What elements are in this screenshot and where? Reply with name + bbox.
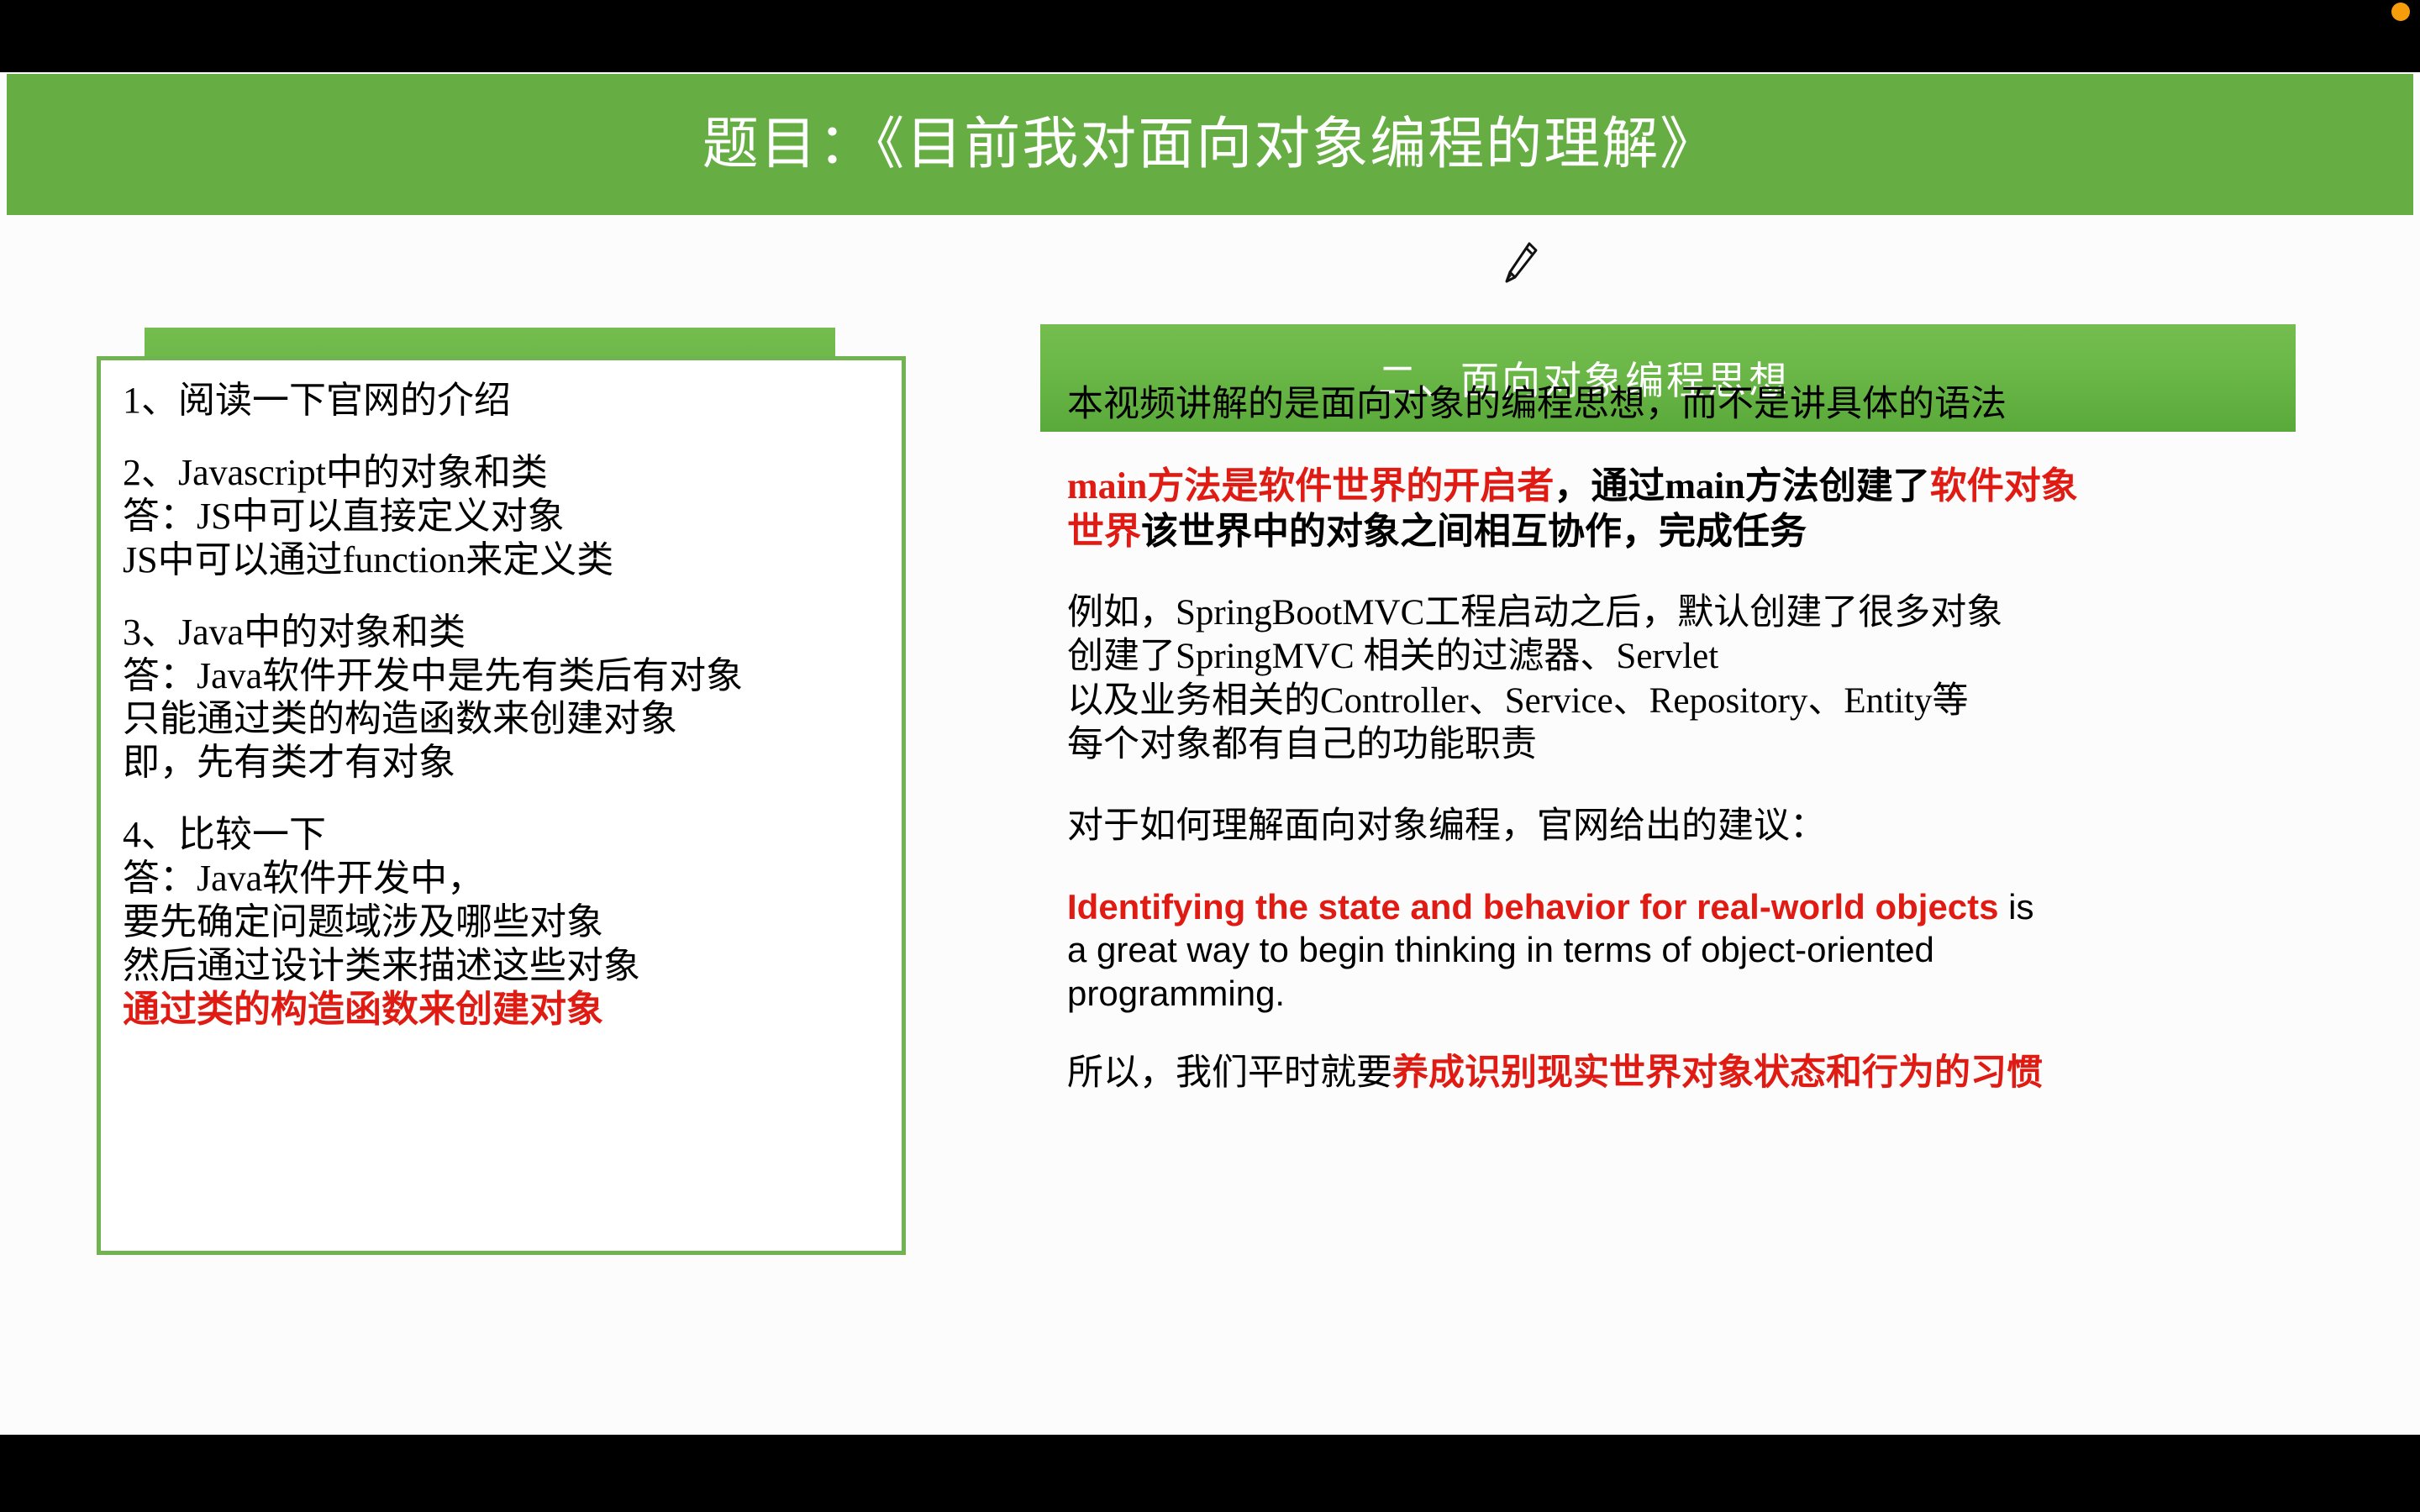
- outline-line: 即，先有类才有对象: [123, 741, 880, 785]
- body-text: 本视频讲解的是面向对象的编程思想，而不是讲具体的语法: [1067, 385, 2007, 424]
- outline-line: 只能通过类的构造函数来创建对象: [123, 697, 880, 741]
- body-text: 每个对象都有自己的功能职责: [1067, 725, 1537, 764]
- highlight-text: 世界: [1067, 511, 1141, 552]
- outline-line: 1、阅读一下官网的介绍: [123, 379, 880, 423]
- oop-paragraph-line: 例如，SpringBootMVC工程启动之后，默认创建了很多对象: [1067, 591, 2378, 635]
- outline-list: 1、阅读一下官网的介绍2、Javascript中的对象和类答：JS中可以直接定义…: [123, 379, 880, 1032]
- outline-line: 然后通过设计类来描述这些对象: [123, 944, 880, 988]
- oop-content-column: 本视频讲解的是面向对象的编程思想，而不是讲具体的语法main方法是软件世界的开启…: [1067, 383, 2378, 1095]
- outline-line: 3、Java中的对象和类: [123, 611, 880, 654]
- page-title: 题目：《目前我对面向对象编程的理解》: [702, 117, 1718, 173]
- oop-paragraph-line: 世界该世界中的对象之间相互协作，完成任务: [1067, 509, 2378, 554]
- outline-line: 要先确定问题域涉及哪些对象: [123, 900, 880, 944]
- oop-paragraph: Identifying the state and behavior for r…: [1067, 885, 2378, 1015]
- outline-line: 答：Java软件开发中是先有类后有对象: [123, 654, 880, 698]
- body-text: programming.: [1067, 974, 1285, 1013]
- outline-line: JS中可以通过function来定义类: [123, 538, 880, 582]
- highlight-text: 养成识别现实世界对象状态和行为的习惯: [1392, 1053, 2043, 1093]
- oop-paragraph-line: programming.: [1067, 972, 2378, 1015]
- oop-paragraph-line: 每个对象都有自己的功能职责: [1067, 723, 2378, 767]
- body-text: 以及业务相关的Controller、Service、Repository、Ent…: [1067, 681, 1969, 721]
- outline-content-box: 1、阅读一下官网的介绍2、Javascript中的对象和类答：JS中可以直接定义…: [97, 356, 906, 1255]
- recording-dot-icon: [2391, 3, 2410, 21]
- oop-paragraph: 所以，我们平时就要养成识别现实世界对象状态和行为的习惯: [1067, 1052, 2378, 1095]
- outline-line: 答：Java软件开发中，: [123, 857, 880, 900]
- body-text: 创建了SpringMVC 相关的过滤器、Servlet: [1067, 637, 1718, 676]
- highlight-text: main方法是软件世界的开启者: [1067, 465, 1554, 507]
- oop-paragraph-line: a great way to begin thinking in terms o…: [1067, 928, 2378, 971]
- body-text: is: [1999, 887, 2034, 927]
- oop-paragraph-line: main方法是软件世界的开启者，通过main方法创建了软件对象: [1067, 464, 2378, 509]
- body-text: 例如，SpringBootMVC工程启动之后，默认创建了很多对象: [1067, 593, 2002, 633]
- letterbox-top-bar: [0, 0, 2420, 72]
- oop-paragraph-line: 对于如何理解面向对象编程，官网给出的建议：: [1067, 805, 2378, 848]
- oop-paragraph: 本视频讲解的是面向对象的编程思想，而不是讲具体的语法: [1067, 383, 2378, 427]
- oop-paragraph-line: 创建了SpringMVC 相关的过滤器、Servlet: [1067, 635, 2378, 679]
- oop-paragraph: main方法是软件世界的开启者，通过main方法创建了软件对象世界该世界中的对象…: [1067, 464, 2378, 554]
- letterbox-bottom-bar: [0, 1435, 2420, 1512]
- oop-paragraph-line: 以及业务相关的Controller、Service、Repository、Ent…: [1067, 680, 2378, 723]
- body-text: 对于如何理解面向对象编程，官网给出的建议：: [1067, 806, 1826, 846]
- slide-canvas: 题目：《目前我对面向对象编程的理解》 一、内容大纲 二、面向对象编程思想 1、阅…: [0, 72, 2420, 1435]
- body-text: 所以，我们平时就要: [1067, 1053, 1392, 1093]
- outline-item: 1、阅读一下官网的介绍: [123, 379, 880, 423]
- outline-line: 通过类的构造函数来创建对象: [123, 988, 880, 1032]
- outline-line: 2、Javascript中的对象和类: [123, 451, 880, 495]
- oop-paragraph: 例如，SpringBootMVC工程启动之后，默认创建了很多对象创建了Sprin…: [1067, 591, 2378, 768]
- body-text: ，通过main方法创建了: [1554, 465, 1929, 507]
- oop-paragraph: 对于如何理解面向对象编程，官网给出的建议：: [1067, 805, 2378, 848]
- oop-paragraph-line: 所以，我们平时就要养成识别现实世界对象状态和行为的习惯: [1067, 1052, 2378, 1095]
- highlight-text: Identifying the state and behavior for r…: [1067, 887, 1999, 927]
- slide-title-banner: 题目：《目前我对面向对象编程的理解》: [7, 74, 2413, 215]
- body-text: a great way to begin thinking in terms o…: [1067, 930, 1934, 969]
- screen-stage: 题目：《目前我对面向对象编程的理解》 一、内容大纲 二、面向对象编程思想 1、阅…: [0, 0, 2420, 1512]
- outline-item: 2、Javascript中的对象和类答：JS中可以直接定义对象JS中可以通过fu…: [123, 451, 880, 582]
- oop-paragraph-line: Identifying the state and behavior for r…: [1067, 885, 2378, 928]
- outline-item: 4、比较一下答：Java软件开发中，要先确定问题域涉及哪些对象然后通过设计类来描…: [123, 813, 880, 1032]
- highlight-text: 软件对象: [1930, 465, 2078, 507]
- outline-line: 答：JS中可以直接定义对象: [123, 495, 880, 538]
- pen-cursor-icon: [1501, 240, 1539, 286]
- oop-paragraph-line: 本视频讲解的是面向对象的编程思想，而不是讲具体的语法: [1067, 383, 2378, 427]
- body-text: 该世界中的对象之间相互协作，完成任务: [1141, 511, 1807, 552]
- outline-line: 4、比较一下: [123, 813, 880, 857]
- outline-item: 3、Java中的对象和类答：Java软件开发中是先有类后有对象只能通过类的构造函…: [123, 611, 880, 785]
